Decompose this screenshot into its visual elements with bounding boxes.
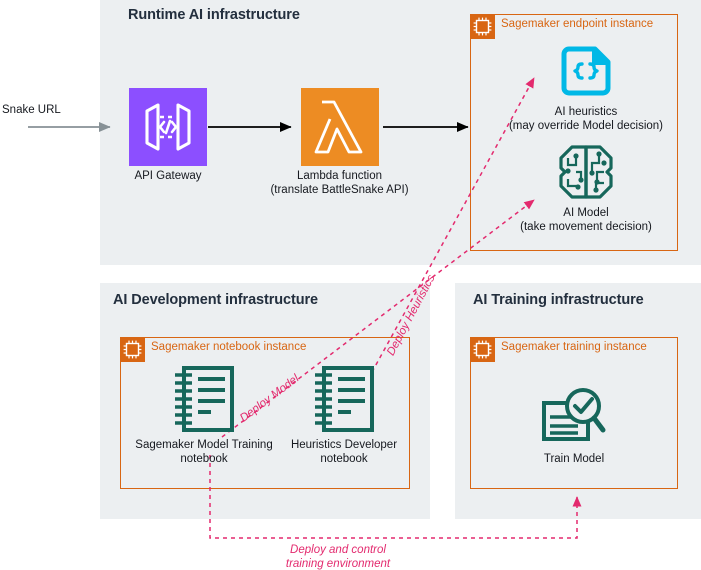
- panel-title-training: AI Training infrastructure: [473, 292, 644, 308]
- api-gateway-icon: [129, 88, 207, 166]
- node-api-gateway[interactable]: API Gateway: [113, 88, 223, 184]
- node-ai-heuristics[interactable]: AI heuristics (may override Model decisi…: [500, 40, 672, 133]
- caption-text: API Gateway: [134, 170, 201, 182]
- instance-label-sagemaker-training: Sagemaker training instance: [501, 341, 647, 353]
- caption-subtext: notebook: [128, 453, 280, 467]
- node-ai-model[interactable]: AI Model (take movement decision): [502, 141, 670, 234]
- chip-icon: [470, 14, 495, 39]
- chip-icon: [470, 337, 495, 362]
- node-caption-api-gateway: API Gateway: [113, 170, 223, 184]
- caption-subtext: (take movement decision): [502, 221, 670, 235]
- caption-text: AI Model: [563, 207, 608, 219]
- caption-text: Lambda function: [297, 170, 382, 182]
- node-caption-ai-heuristics: AI heuristics (may override Model decisi…: [500, 106, 672, 133]
- caption-subtext: (translate BattleSnake API): [262, 184, 417, 198]
- chip-icon: [120, 337, 145, 362]
- node-caption-heuristics-developer-notebook: Heuristics Developer notebook: [283, 439, 405, 466]
- json-document-icon: [555, 40, 617, 102]
- notebook-icon: [310, 363, 378, 435]
- caption-subtext: notebook: [283, 453, 405, 467]
- caption-text: AI heuristics: [555, 106, 618, 118]
- caption-text: Train Model: [544, 453, 604, 465]
- panel-title-development: AI Development infrastructure: [113, 292, 318, 308]
- node-train-model[interactable]: Train Model: [520, 385, 628, 467]
- label-deploy-and-control-line2: training environment: [286, 558, 390, 570]
- document-magnifier-check-icon: [538, 385, 610, 449]
- instance-label-sagemaker-notebook: Sagemaker notebook instance: [151, 341, 306, 353]
- node-lambda-function[interactable]: Lambda function (translate BattleSnake A…: [262, 88, 417, 197]
- caption-subtext: (may override Model decision): [500, 120, 672, 134]
- architecture-diagram: Runtime AI infrastructure AI Development…: [0, 0, 701, 570]
- notebook-icon: [170, 363, 238, 435]
- node-model-training-notebook[interactable]: Sagemaker Model Training notebook: [128, 363, 280, 466]
- node-heuristics-developer-notebook[interactable]: Heuristics Developer notebook: [283, 363, 405, 466]
- panel-title-runtime: Runtime AI infrastructure: [128, 7, 300, 23]
- node-caption-train-model: Train Model: [520, 453, 628, 467]
- label-snake-url: Snake URL: [2, 104, 61, 116]
- label-deploy-and-control-line1: Deploy and control: [290, 544, 386, 556]
- lambda-icon: [301, 88, 379, 166]
- caption-text: Sagemaker Model Training: [135, 439, 272, 451]
- brain-circuit-icon: [554, 141, 618, 203]
- label-deploy-and-control: Deploy and control training environment: [273, 543, 403, 570]
- instance-label-sagemaker-endpoint: Sagemaker endpoint instance: [501, 18, 653, 30]
- node-caption-lambda: Lambda function (translate BattleSnake A…: [262, 170, 417, 197]
- node-caption-ai-model: AI Model (take movement decision): [502, 207, 670, 234]
- caption-text: Heuristics Developer: [291, 439, 397, 451]
- node-caption-model-training-notebook: Sagemaker Model Training notebook: [128, 439, 280, 466]
